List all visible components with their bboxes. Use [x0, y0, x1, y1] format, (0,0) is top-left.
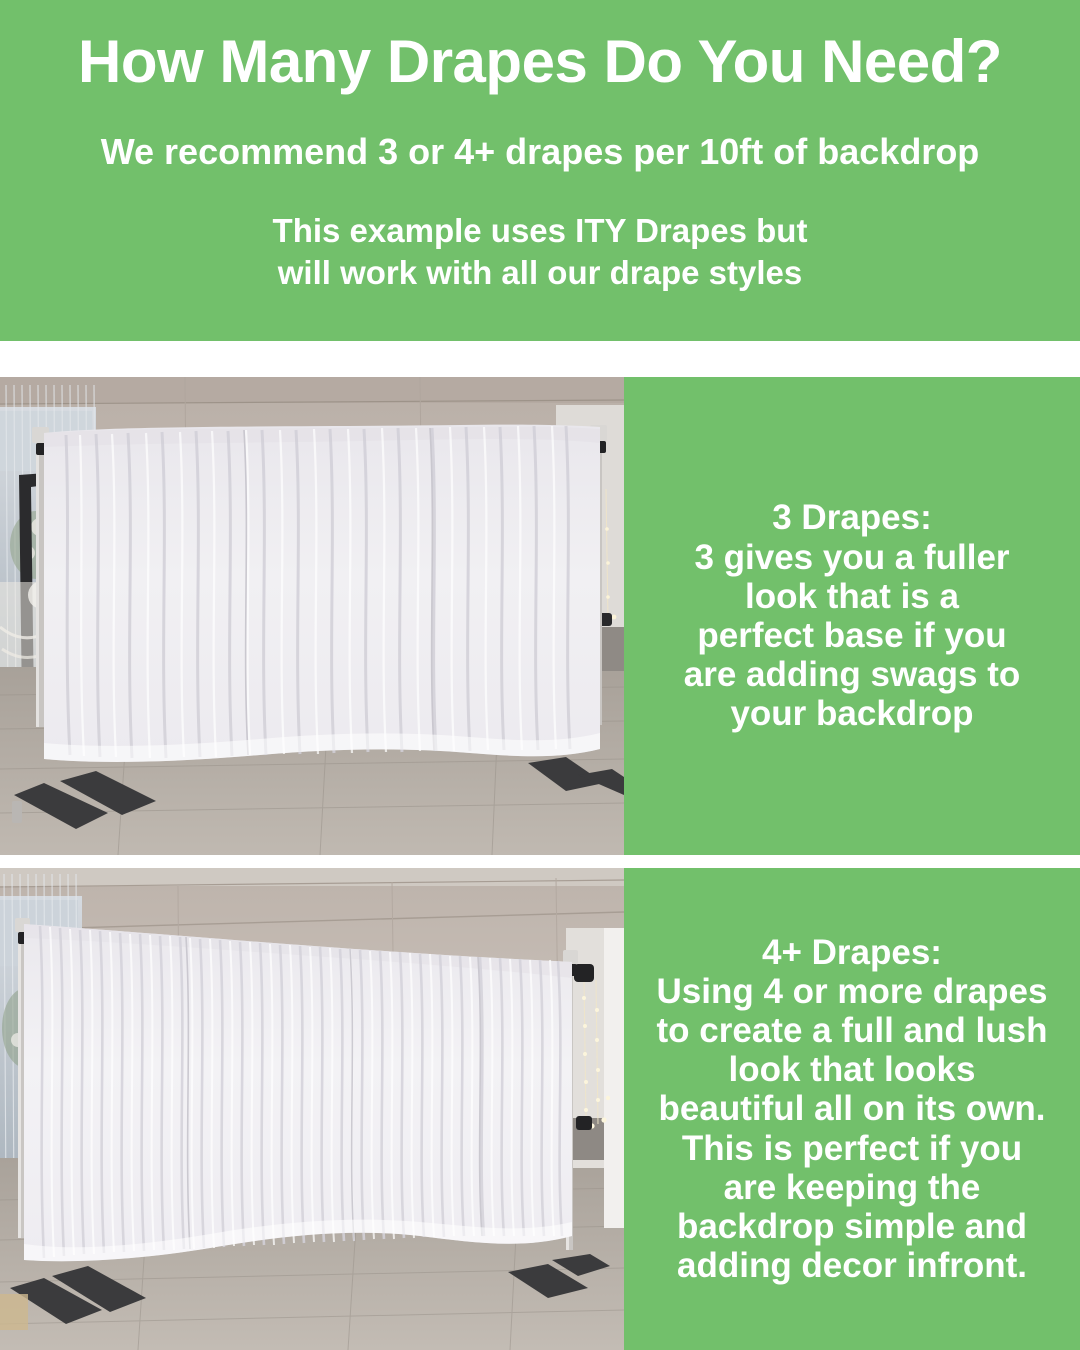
text-panel-three-drapes: 3 Drapes: 3 gives you a fuller look that… [624, 377, 1080, 855]
photo-three-drapes [0, 377, 624, 855]
text-panel-four-plus-drapes: 4+ Drapes: Using 4 or more drapes to cre… [624, 868, 1080, 1350]
three-drapes-description: 3 Drapes: 3 gives you a fuller look that… [676, 498, 1028, 733]
photo-four-plus-drapes-graphic [0, 868, 624, 1350]
section-three-drapes: 3 Drapes: 3 gives you a fuller look that… [0, 377, 1080, 855]
header-note: This example uses ITY Drapes but will wo… [273, 210, 808, 294]
header-subtitle: We recommend 3 or 4+ drapes per 10ft of … [101, 134, 980, 170]
four-plus-drapes-description: 4+ Drapes: Using 4 or more drapes to cre… [649, 933, 1056, 1286]
section-four-plus-drapes: 4+ Drapes: Using 4 or more drapes to cre… [0, 868, 1080, 1350]
photo-four-plus-drapes [0, 868, 624, 1350]
header-banner: How Many Drapes Do You Need? We recommen… [0, 0, 1080, 341]
photo-three-drapes-graphic [0, 377, 624, 855]
page-title: How Many Drapes Do You Need? [78, 32, 1002, 92]
